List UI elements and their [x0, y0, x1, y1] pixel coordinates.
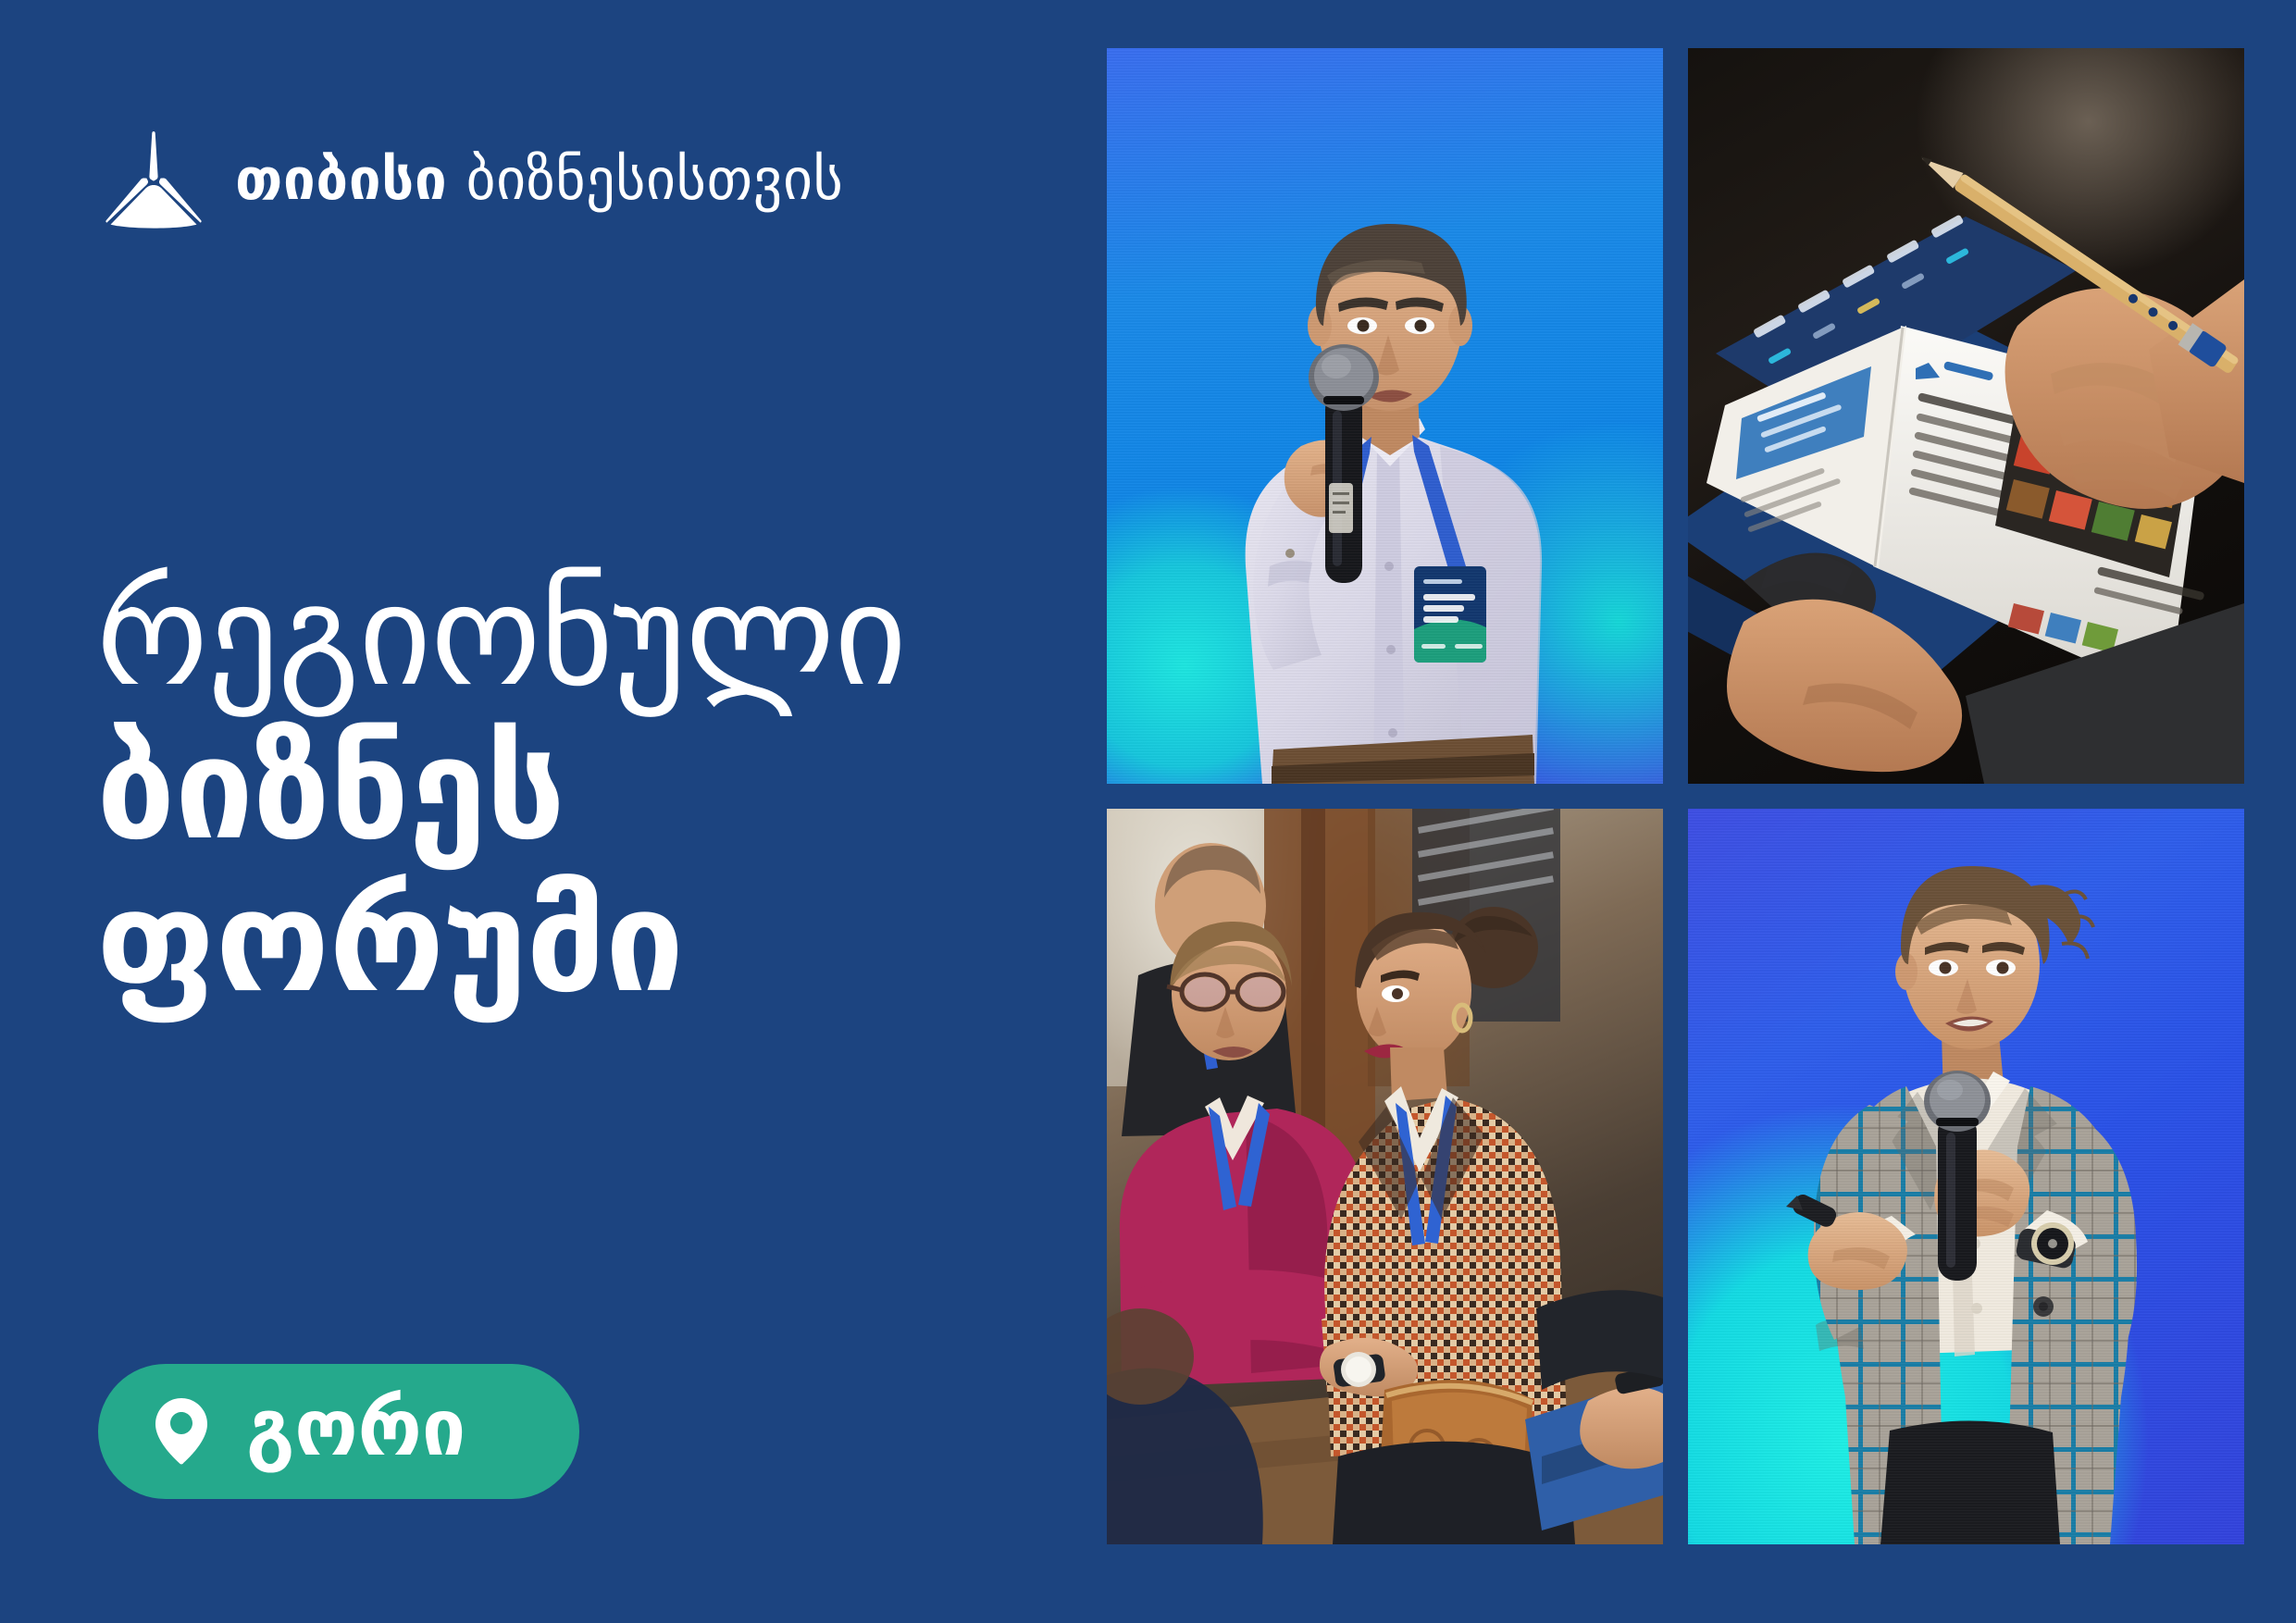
- photo-seated-audience: [1107, 809, 1663, 1544]
- location-pin-icon: [155, 1398, 207, 1465]
- photo-hands-writing-on-brochure: [1688, 48, 2244, 784]
- headline-line-1: რეგიონული: [96, 566, 1077, 705]
- event-promo-banner: თიბისი ბიზნესისთვის რეგიონული ბიზნეს ფორ…: [0, 0, 2296, 1623]
- location-badge-label: გორი: [246, 1389, 465, 1467]
- brand-wordmark-strong: თიბისი: [235, 145, 447, 213]
- led-scanline-overlay: [1107, 48, 1663, 784]
- led-scanline-overlay-2: [1688, 809, 2244, 1544]
- brand-lockup: თიბისი ბიზნესისთვის: [100, 130, 843, 229]
- headline-line-2: ბიზნეს: [96, 720, 1077, 859]
- brand-wordmark-light: ბიზნესისთვის: [466, 145, 844, 213]
- photo-grid: [1107, 48, 2244, 1562]
- brand-wordmark: თიბისი ბიზნესისთვის: [235, 151, 843, 208]
- headline-line-3: ფორუმი: [96, 873, 1077, 1011]
- headline-block: რეგიონული ბიზნეს ფორუმი: [96, 566, 1077, 1011]
- location-badge[interactable]: გორი: [98, 1364, 579, 1499]
- left-content-panel: თიბისი ბიზნესისთვის რეგიონული ბიზნეს ფორ…: [0, 0, 1107, 1623]
- tbc-triangle-logo-icon: [100, 130, 207, 229]
- photo-male-speaker-with-microphone: [1107, 48, 1663, 784]
- audience-figures: [1107, 809, 1663, 1544]
- photo-female-presenter-with-microphone: [1688, 809, 2244, 1544]
- brochure-and-hands: [1688, 48, 2244, 784]
